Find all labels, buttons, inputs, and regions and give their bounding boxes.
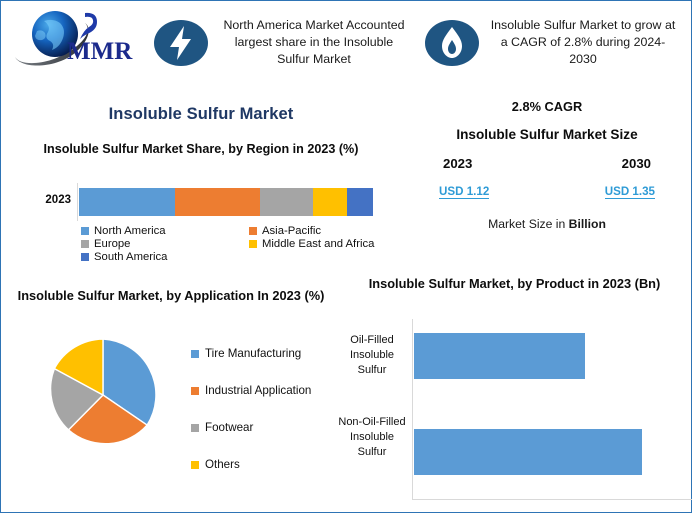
value-base: USD 1.12 — [439, 185, 489, 199]
region-stacked-bar — [79, 188, 373, 216]
region-legend: North America Asia-Pacific Europe Middle… — [81, 225, 391, 264]
legend-swatch-icon — [191, 387, 199, 395]
market-size-title: Insoluble Sulfur Market Size — [401, 126, 692, 144]
legend-label: Asia-Pacific — [262, 225, 321, 237]
product-label-oil-filled: Oil-Filled Insoluble Sulfur — [336, 333, 408, 378]
product-baseline — [412, 499, 692, 500]
market-size-footnote: Market Size in Billion — [401, 217, 692, 231]
market-size-panel: 2.8% CAGR Insoluble Sulfur Market Size 2… — [401, 95, 692, 275]
legend-item-tire-manufacturing: Tire Manufacturing — [191, 335, 341, 372]
region-segment-north-america — [79, 188, 175, 216]
legend-swatch-icon — [81, 227, 89, 235]
legend-label: Footwear — [205, 421, 253, 434]
application-pie — [45, 337, 161, 453]
legend-swatch-icon — [191, 424, 199, 432]
footnote-unit: Billion — [569, 217, 606, 231]
region-plot-area: 2023 — [1, 183, 401, 221]
region-chart-title: Insoluble Sulfur Market Share, by Region… — [5, 141, 397, 157]
legend-label: Europe — [94, 238, 130, 250]
product-bar-non-oil-filled — [414, 429, 642, 475]
application-legend: Tire Manufacturing Industrial Applicatio… — [191, 335, 341, 483]
mmr-logo: MMR — [11, 7, 139, 69]
legend-swatch-icon — [249, 227, 257, 235]
product-label-non-oil-filled: Non-Oil-Filled Insoluble Sulfur — [336, 415, 408, 460]
legend-swatch-icon — [191, 461, 199, 469]
legend-label: Others — [205, 458, 240, 471]
cagr-value: 2.8% CAGR — [401, 99, 692, 114]
legend-label: Middle East and Africa — [262, 238, 374, 250]
product-chart-title: Insoluble Sulfur Market, by Product in 2… — [345, 273, 685, 293]
footnote-prefix: Market Size in — [488, 217, 569, 231]
legend-label: North America — [94, 225, 166, 237]
legend-swatch-icon — [81, 240, 89, 248]
region-segment-europe — [260, 188, 313, 216]
globe-icon: MMR — [11, 7, 139, 69]
application-share-chart: Insoluble Sulfur Market, by Application … — [1, 287, 341, 514]
product-bar-row: Non-Oil-Filled Insoluble Sulfur — [336, 429, 692, 475]
header-highlight-2-text: Insoluble Sulfur Market to grow at a CAG… — [488, 17, 678, 68]
flame-icon — [424, 15, 480, 71]
region-segment-middle-east-and-africa — [313, 188, 347, 216]
legend-item-asia-pacific: Asia-Pacific — [249, 225, 321, 237]
legend-label: Tire Manufacturing — [205, 347, 301, 360]
region-segment-asia-pacific — [175, 188, 260, 216]
logo-text: MMR — [67, 38, 133, 65]
product-bar-row: Oil-Filled Insoluble Sulfur — [336, 333, 692, 379]
lightning-bolt-icon — [153, 15, 209, 71]
product-plot-area: Oil-Filled Insoluble Sulfur Non-Oil-Fill… — [336, 319, 692, 501]
region-axis-line — [77, 183, 78, 221]
legend-item-north-america: North America — [81, 225, 249, 237]
legend-item-south-america: South America — [81, 251, 249, 263]
infographic-frame: MMR North America Market Accounted large… — [0, 0, 692, 513]
legend-label: Industrial Application — [205, 384, 311, 397]
header-highlight-1-text: North America Market Accounted largest s… — [219, 17, 409, 68]
region-segment-south-america — [347, 188, 373, 216]
legend-item-middle-east-and-africa: Middle East and Africa — [249, 238, 374, 250]
year-base-label: 2023 — [443, 156, 472, 171]
market-size-values: USD 1.12 USD 1.35 — [401, 185, 692, 199]
legend-swatch-icon — [81, 253, 89, 261]
header: MMR North America Market Accounted large… — [1, 1, 692, 89]
product-bar-oil-filled — [414, 333, 585, 379]
value-forecast: USD 1.35 — [605, 185, 655, 199]
region-share-chart: Insoluble Sulfur Market Share, by Region… — [1, 141, 401, 271]
legend-item-footwear: Footwear — [191, 409, 341, 446]
legend-swatch-icon — [249, 240, 257, 248]
page-title: Insoluble Sulfur Market — [1, 105, 401, 124]
legend-item-europe: Europe — [81, 238, 249, 250]
application-chart-title: Insoluble Sulfur Market, by Application … — [8, 287, 334, 304]
region-category-label: 2023 — [21, 194, 71, 206]
year-forecast-label: 2030 — [622, 156, 651, 171]
legend-item-others: Others — [191, 446, 341, 483]
legend-item-industrial-application: Industrial Application — [191, 372, 341, 409]
product-split-chart: Insoluble Sulfur Market, by Product in 2… — [336, 273, 692, 514]
legend-swatch-icon — [191, 350, 199, 358]
legend-label: South America — [94, 251, 167, 263]
market-size-years: 2023 2030 — [401, 156, 692, 171]
